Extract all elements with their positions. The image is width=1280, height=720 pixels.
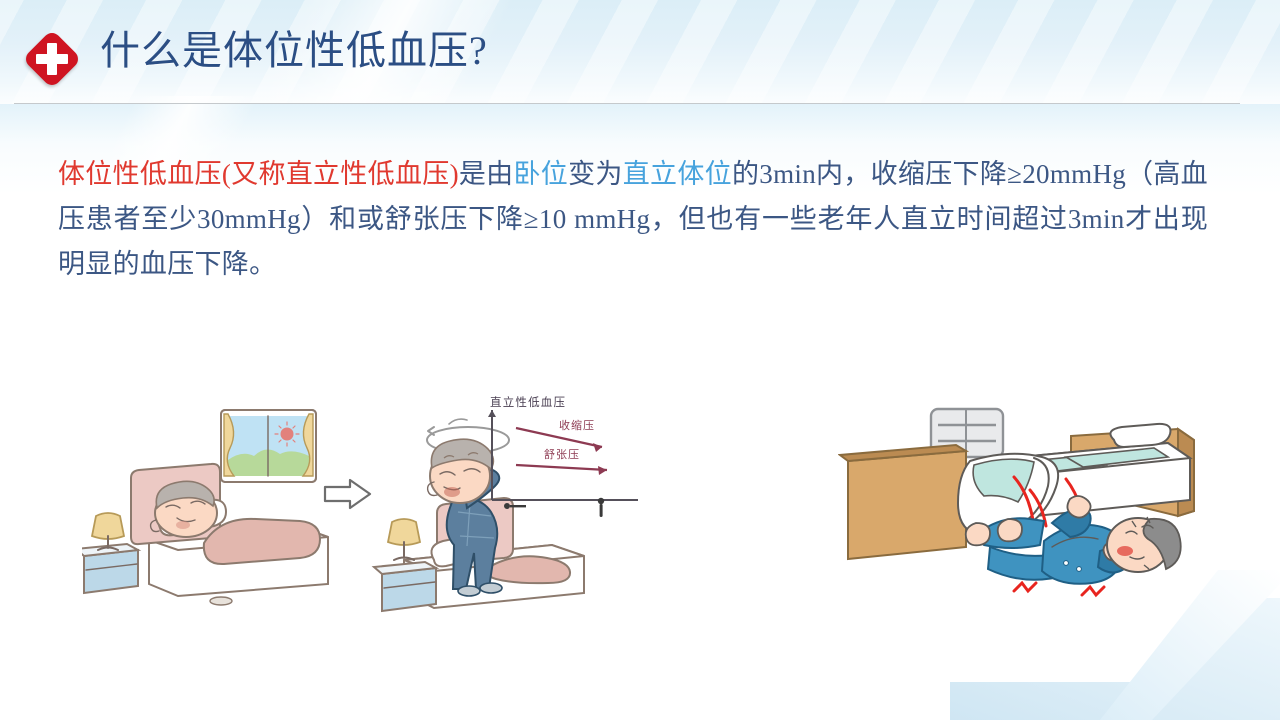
medical-cross-diamond-icon — [22, 29, 82, 89]
lying-to-sitting-illustration: .ln { fill:none; stroke:#7a6a63; stroke-… — [82, 388, 642, 616]
panel-lying-in-bed — [82, 410, 328, 605]
logo-cross-horizontal — [36, 54, 68, 64]
impact-mark-icons — [1014, 583, 1104, 595]
header-divider — [14, 103, 1240, 104]
body-segment-term: 体位性低血压(又称直立性低血压) — [58, 159, 459, 189]
body-paragraph: 体位性低血压(又称直立性低血压)是由卧位变为直立体位的3min内，收缩压下降≥2… — [58, 152, 1208, 287]
right-arrow-icon — [325, 480, 370, 508]
page-title: 什么是体位性低血压? — [100, 23, 488, 79]
body-segment-supine: 卧位 — [514, 159, 569, 189]
body-segment-upright: 直立体位 — [623, 159, 732, 189]
chart-title: 直立性低血压 — [490, 395, 566, 409]
slide-canvas: 什么是体位性低血压? 体位性低血压(又称直立性低血压)是由卧位变为直立体位的3m… — [0, 0, 1280, 720]
chart-series-label-systolic: 收缩压 — [559, 418, 595, 432]
chart-series-label-diastolic: 舒张压 — [544, 447, 580, 461]
fall-from-bed-illustration: .ol { fill:none; stroke:#5e5b58; stroke-… — [838, 395, 1210, 617]
panel-dizzy-sitting — [374, 419, 584, 611]
window-icon — [221, 410, 316, 482]
body-segment-connector-2: 变为 — [568, 159, 623, 189]
body-segment-connector-1: 是由 — [459, 159, 514, 189]
